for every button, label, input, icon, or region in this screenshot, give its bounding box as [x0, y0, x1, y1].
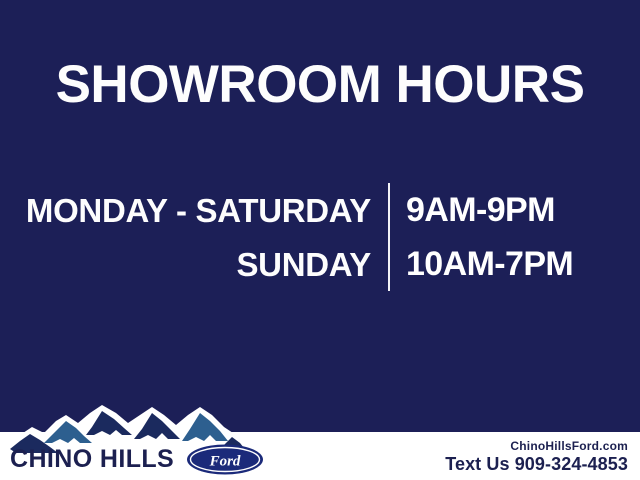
dealer-name: CHINO HILLS: [10, 447, 174, 472]
hours-days-label: SUNDAY: [0, 248, 388, 281]
hours-divider: [388, 183, 390, 291]
table-row: MONDAY - SATURDAY 9AM-9PM: [0, 183, 640, 237]
page-title: SHOWROOM HOURS: [56, 58, 585, 111]
svg-text:Ford: Ford: [209, 454, 241, 470]
hours-days-label: MONDAY - SATURDAY: [0, 194, 388, 227]
showroom-hours-poster: SHOWROOM HOURS MONDAY - SATURDAY 9AM-9PM…: [0, 0, 640, 480]
hours-table: MONDAY - SATURDAY 9AM-9PM SUNDAY 10AM-7P…: [0, 183, 640, 291]
dealer-brand-row: CHINO HILLS Ford: [10, 444, 264, 475]
table-row: SUNDAY 10AM-7PM: [0, 237, 640, 291]
title-container: SHOWROOM HOURS: [0, 58, 640, 111]
hours-time-value: 10AM-7PM: [388, 247, 640, 281]
contact-info: ChinoHillsFord.com Text Us 909-324-4853: [445, 439, 628, 476]
ford-logo-icon: Ford: [186, 444, 264, 475]
website-link[interactable]: ChinoHillsFord.com: [445, 439, 628, 454]
hours-time-value: 9AM-9PM: [388, 193, 640, 227]
phone-number[interactable]: Text Us 909-324-4853: [445, 454, 628, 476]
